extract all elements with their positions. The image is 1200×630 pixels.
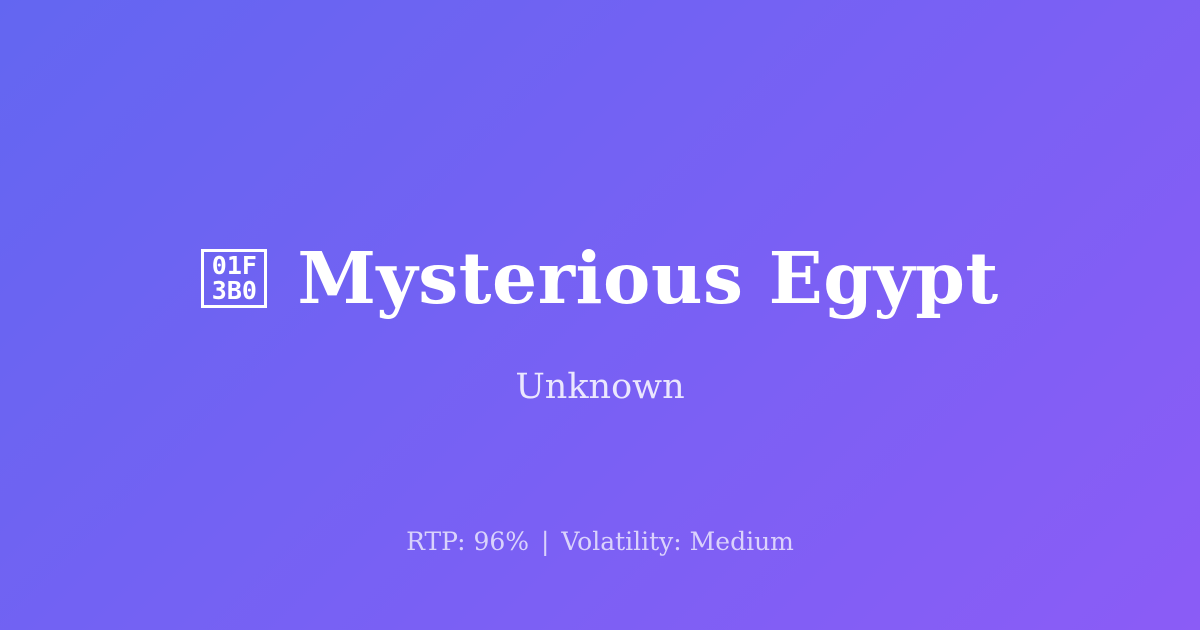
codepoint-line-bottom: 3B0: [212, 278, 257, 303]
page-title: Mysterious Egypt: [297, 232, 998, 324]
rtp-label: RTP: 96%: [406, 527, 529, 556]
og-card: 01F 3B0 Mysterious Egypt Unknown RTP: 96…: [0, 0, 1200, 630]
title-row: 01F 3B0 Mysterious Egypt: [0, 232, 1200, 324]
slot-machine-icon: 01F 3B0: [201, 249, 267, 308]
meta-separator: |: [537, 527, 553, 556]
provider-label: Unknown: [0, 364, 1200, 410]
codepoint-line-top: 01F: [212, 253, 257, 278]
game-meta: RTP: 96% | Volatility: Medium: [0, 526, 1200, 558]
volatility-label: Volatility: Medium: [561, 527, 793, 556]
